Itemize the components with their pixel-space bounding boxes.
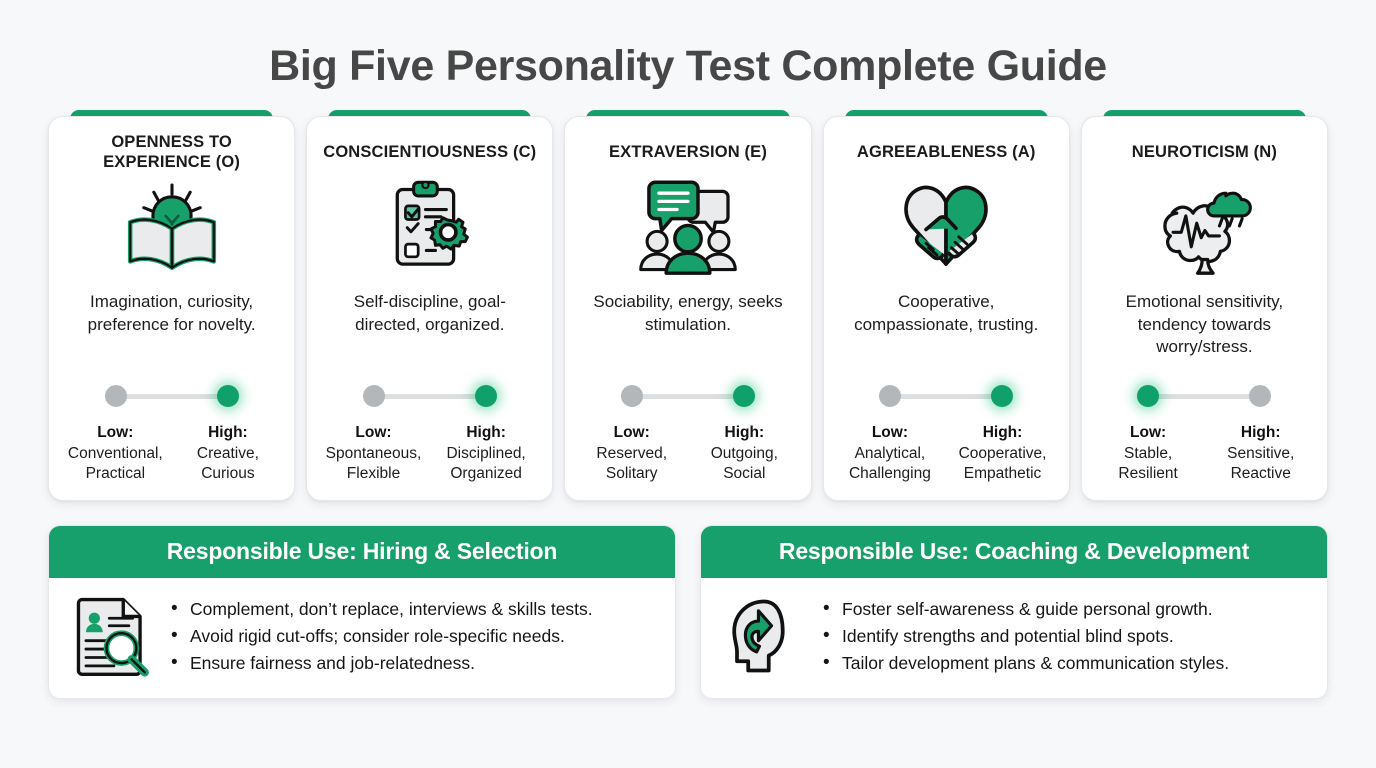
slider-dot-high[interactable] — [1249, 385, 1271, 407]
slider-dot-low[interactable] — [879, 385, 901, 407]
pole-high-description: Creative, Curious — [174, 444, 283, 484]
pole-high: High: Outgoing, Social — [688, 423, 801, 484]
pole-low: Low: Spontaneous, Flexible — [317, 423, 430, 484]
pole-low-label: Low: — [319, 423, 428, 444]
resume-magnifier-icon — [71, 594, 155, 678]
trait-slider[interactable] — [1137, 383, 1271, 409]
panel-hiring-selection: Responsible Use: Hiring & Selection — [48, 525, 676, 699]
trait-description: Emotional sensitivity, tendency towards … — [1092, 291, 1317, 361]
list-item: Foster self-awareness & guide personal g… — [823, 596, 1309, 623]
slider-dot-low[interactable] — [363, 385, 385, 407]
pole-low-label: Low: — [1094, 423, 1203, 444]
slider-dot-low[interactable] — [1137, 385, 1159, 407]
slider-track — [888, 394, 1004, 399]
slider-dot-high[interactable] — [733, 385, 755, 407]
pole-high: High: Creative, Curious — [172, 423, 285, 484]
slider-dot-low[interactable] — [621, 385, 643, 407]
pole-high: High: Disciplined, Organized — [430, 423, 543, 484]
speech-bubbles-people-icon — [629, 175, 747, 275]
brain-storm-cloud-icon — [1145, 175, 1263, 275]
pole-low-label: Low: — [577, 423, 686, 444]
pole-high-label: High: — [432, 423, 541, 444]
trait-poles: Low: Reserved, Solitary High: Outgoing, … — [575, 423, 800, 484]
slider-dot-low[interactable] — [105, 385, 127, 407]
trait-description: Cooperative, compassionate, trusting. — [834, 291, 1059, 361]
trait-poles: Low: Spontaneous, Flexible High: Discipl… — [317, 423, 542, 484]
slider-track — [372, 394, 488, 399]
panel-header: Responsible Use: Hiring & Selection — [49, 526, 675, 578]
slider-dot-high[interactable] — [991, 385, 1013, 407]
pole-low-description: Stable, Resilient — [1094, 444, 1203, 484]
trait-title: AGREEABLENESS (A) — [855, 131, 1038, 173]
slider-dot-high[interactable] — [217, 385, 239, 407]
panel-coaching-development: Responsible Use: Coaching & Development … — [700, 525, 1328, 699]
panel-bullet-list: Foster self-awareness & guide personal g… — [823, 596, 1309, 676]
clipboard-gear-icon — [371, 175, 489, 275]
trait-title: EXTRAVERSION (E) — [607, 131, 769, 173]
page-title: Big Five Personality Test Complete Guide — [0, 0, 1376, 90]
trait-poles: Low: Analytical, Challenging High: Coope… — [834, 423, 1059, 484]
lightbulb-book-icon — [113, 175, 231, 275]
trait-slider[interactable] — [621, 383, 755, 409]
trait-poles: Low: Conventional, Practical High: Creat… — [59, 423, 284, 484]
pole-high: High: Sensitive, Reactive — [1204, 423, 1317, 484]
pole-high-description: Outgoing, Social — [690, 444, 799, 484]
slider-track — [114, 394, 230, 399]
trait-slider[interactable] — [363, 383, 497, 409]
pole-low-description: Analytical, Challenging — [836, 444, 945, 484]
infographic-page: Big Five Personality Test Complete Guide… — [0, 0, 1376, 768]
slider-track — [630, 394, 746, 399]
pole-low-label: Low: — [836, 423, 945, 444]
pole-low-description: Spontaneous, Flexible — [319, 444, 428, 484]
slider-track — [1146, 394, 1262, 399]
responsible-use-panels: Responsible Use: Hiring & Selection — [0, 501, 1376, 699]
trait-description: Sociability, energy, seeks stimulation. — [575, 291, 800, 361]
list-item: Identify strengths and potential blind s… — [823, 623, 1309, 650]
pole-low-description: Reserved, Solitary — [577, 444, 686, 484]
pole-high-label: High: — [1206, 423, 1315, 444]
pole-low-label: Low: — [61, 423, 170, 444]
slider-dot-high[interactable] — [475, 385, 497, 407]
trait-card-row: OPENNESS TO EXPERIENCE (O) — [0, 90, 1376, 501]
pole-high: High: Cooperative, Empathetic — [946, 423, 1059, 484]
trait-description: Imagination, curiosity, preference for n… — [59, 291, 284, 361]
trait-title: CONSCIENTIOUSNESS (C) — [321, 131, 538, 173]
list-item: Ensure fairness and job-relatedness. — [171, 650, 657, 677]
pole-high-description: Disciplined, Organized — [432, 444, 541, 484]
list-item: Complement, don’t replace, interviews & … — [171, 596, 657, 623]
handshake-heart-icon — [887, 175, 1005, 275]
trait-slider[interactable] — [105, 383, 239, 409]
head-growth-arrow-icon — [723, 594, 807, 678]
panel-bullet-list: Complement, don’t replace, interviews & … — [171, 596, 657, 676]
trait-title: OPENNESS TO EXPERIENCE (O) — [59, 131, 284, 173]
pole-high-label: High: — [690, 423, 799, 444]
pole-high-description: Cooperative, Empathetic — [948, 444, 1057, 484]
pole-low: Low: Conventional, Practical — [59, 423, 172, 484]
pole-low: Low: Stable, Resilient — [1092, 423, 1205, 484]
pole-low-description: Conventional, Practical — [61, 444, 170, 484]
trait-card-openness[interactable]: OPENNESS TO EXPERIENCE (O) — [48, 110, 295, 501]
list-item: Avoid rigid cut-offs; consider role-spec… — [171, 623, 657, 650]
trait-title: NEUROTICISM (N) — [1130, 131, 1279, 173]
pole-high-label: High: — [174, 423, 283, 444]
trait-card-extraversion[interactable]: EXTRAVERSION (E) — [564, 110, 811, 501]
trait-card-neuroticism[interactable]: NEUROTICISM (N) Emotional sen — [1081, 110, 1328, 501]
trait-slider[interactable] — [879, 383, 1013, 409]
trait-description: Self-discipline, goal-directed, organize… — [317, 291, 542, 361]
trait-card-conscientiousness[interactable]: CONSCIENTIOUSNESS (C) — [306, 110, 553, 501]
pole-high-label: High: — [948, 423, 1057, 444]
pole-low: Low: Analytical, Challenging — [834, 423, 947, 484]
panel-header: Responsible Use: Coaching & Development — [701, 526, 1327, 578]
pole-high-description: Sensitive, Reactive — [1206, 444, 1315, 484]
trait-poles: Low: Stable, Resilient High: Sensitive, … — [1092, 423, 1317, 484]
pole-low: Low: Reserved, Solitary — [575, 423, 688, 484]
trait-card-agreeableness[interactable]: AGREEABLENESS (A) — [823, 110, 1070, 501]
list-item: Tailor development plans & communication… — [823, 650, 1309, 677]
